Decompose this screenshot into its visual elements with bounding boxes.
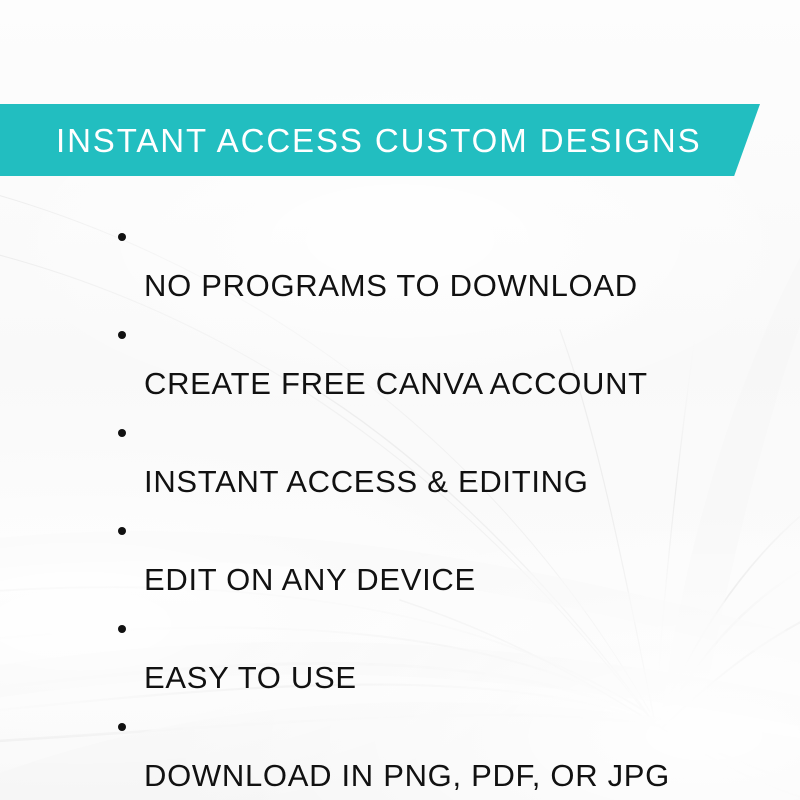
list-item: DOWNLOAD IN PNG, PDF, OR JPG FORMAT xyxy=(112,702,712,800)
banner: INSTANT ACCESS CUSTOM DESIGNS xyxy=(0,104,760,176)
list-item: CREATE FREE CANVA ACCOUNT xyxy=(112,310,712,408)
list-item-label: DOWNLOAD IN PNG, PDF, OR JPG FORMAT xyxy=(144,758,670,800)
page-title: INSTANT ACCESS CUSTOM DESIGNS xyxy=(0,124,702,157)
list-item-label: NO PROGRAMS TO DOWNLOAD xyxy=(144,268,638,303)
list-item-label: EDIT ON ANY DEVICE xyxy=(144,562,476,597)
list-item: EDIT ON ANY DEVICE xyxy=(112,506,712,604)
promo-graphic: INSTANT ACCESS CUSTOM DESIGNS NO PROGRAM… xyxy=(0,0,800,800)
list-item-label: EASY TO USE xyxy=(144,660,357,695)
list-item: INSTANT ACCESS & EDITING xyxy=(112,408,712,506)
list-item-label: CREATE FREE CANVA ACCOUNT xyxy=(144,366,648,401)
list-item: EASY TO USE xyxy=(112,604,712,702)
list-item: NO PROGRAMS TO DOWNLOAD xyxy=(112,212,712,310)
list-item-label: INSTANT ACCESS & EDITING xyxy=(144,464,589,499)
feature-list: NO PROGRAMS TO DOWNLOAD CREATE FREE CANV… xyxy=(112,212,712,800)
